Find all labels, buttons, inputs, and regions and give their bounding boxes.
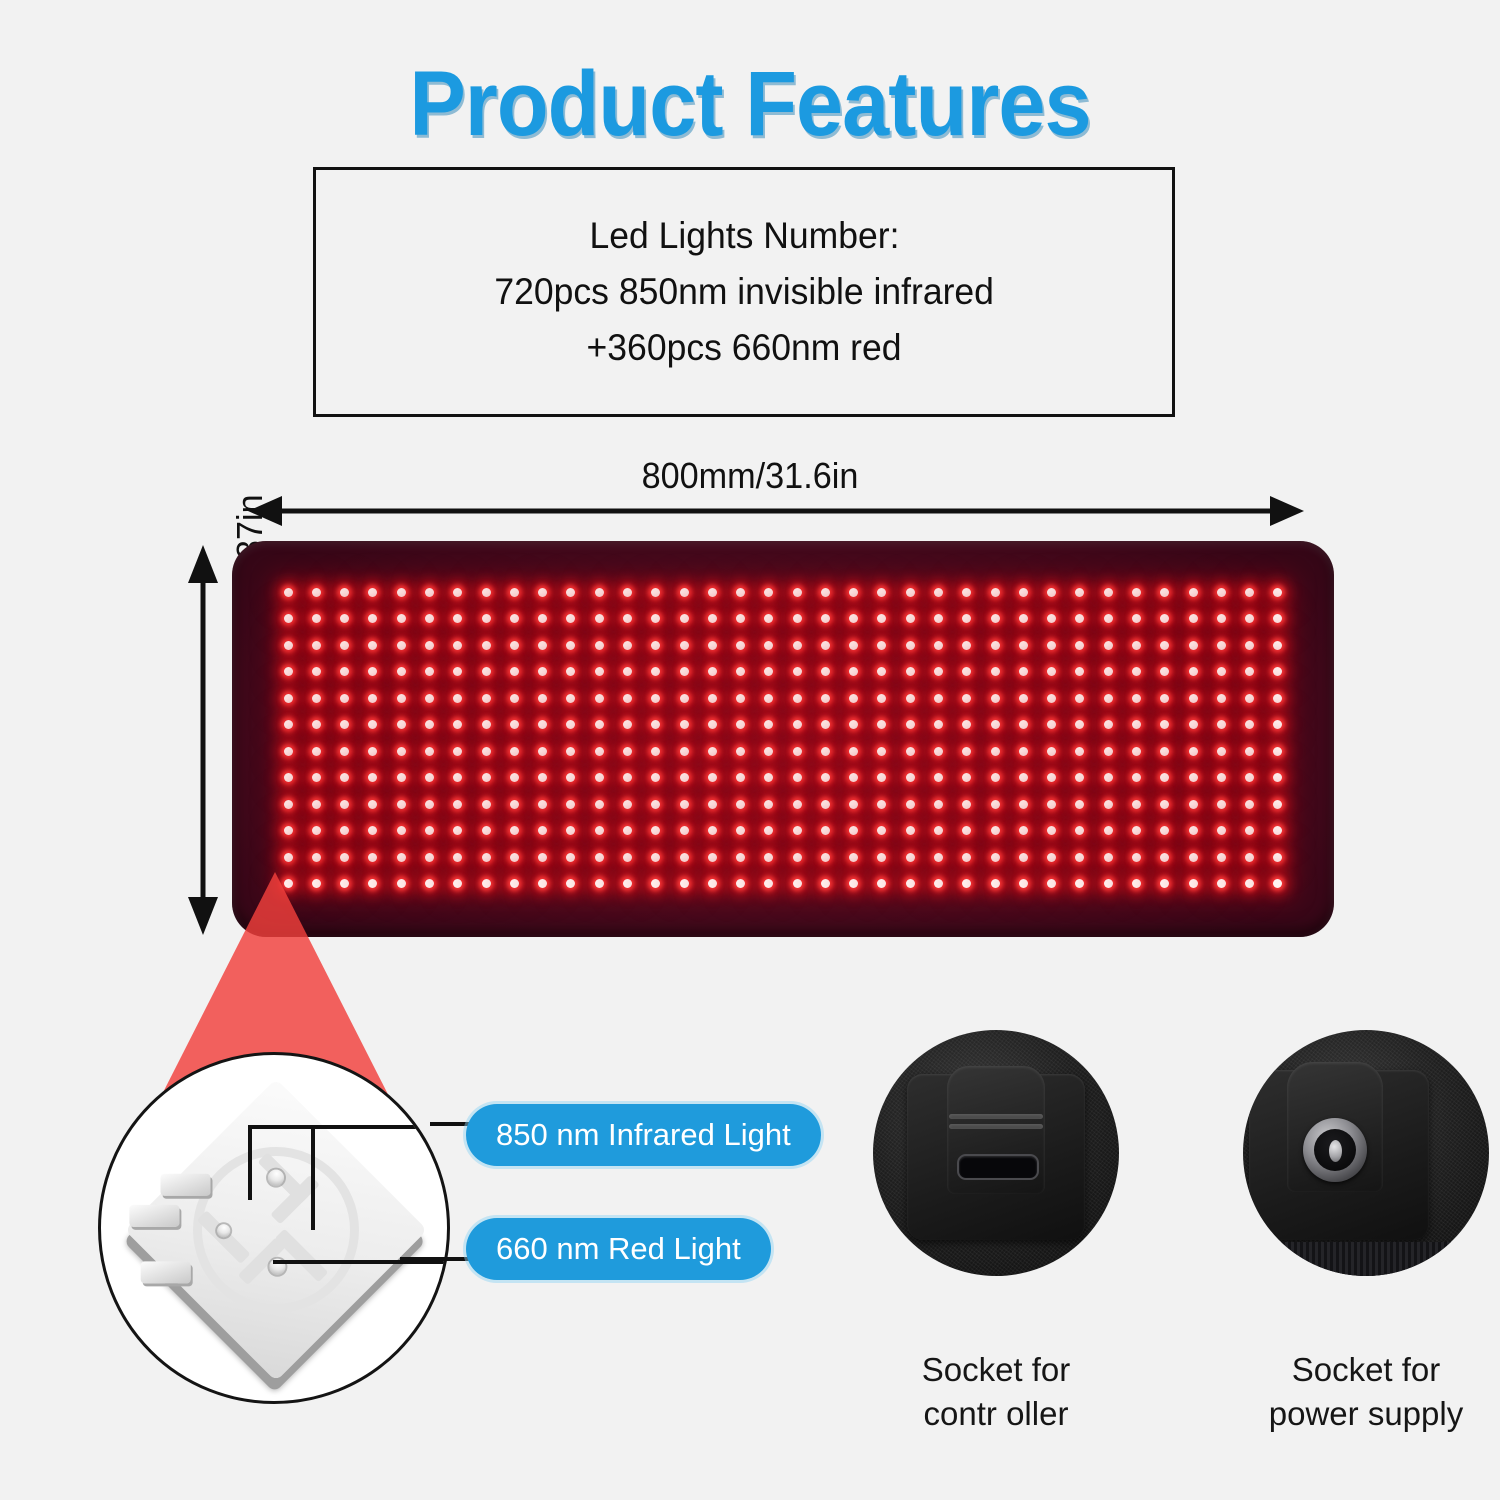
led-dot (736, 773, 745, 782)
led-dot (708, 826, 717, 835)
led-dot (1047, 800, 1056, 809)
led-dot (1189, 667, 1198, 676)
led-dot (1104, 667, 1113, 676)
led-dot (736, 879, 745, 888)
led-dot (397, 879, 406, 888)
led-dot (1273, 694, 1282, 703)
led-dot (284, 879, 293, 888)
led-dot (538, 667, 547, 676)
led-dot (849, 614, 858, 623)
led-dot (482, 720, 491, 729)
led-dot (1132, 694, 1141, 703)
led-dot (1019, 879, 1028, 888)
led-dot (680, 879, 689, 888)
led-dot (991, 879, 1000, 888)
led-dot (651, 641, 660, 650)
led-dot (849, 773, 858, 782)
led-dot (1160, 826, 1169, 835)
led-dot (1075, 879, 1084, 888)
led-dot (1047, 826, 1056, 835)
led-dot (1132, 747, 1141, 756)
led-dot (793, 747, 802, 756)
led-dot (793, 588, 802, 597)
led-dot (623, 826, 632, 835)
chip-solder-pad-2 (129, 1205, 179, 1227)
led-dot (340, 614, 349, 623)
led-dot (595, 773, 604, 782)
led-dot (651, 853, 660, 862)
led-dot (877, 720, 886, 729)
led-dot (736, 667, 745, 676)
caption-line-2: contr oller (831, 1392, 1161, 1436)
led-dot (425, 800, 434, 809)
led-dot (284, 614, 293, 623)
led-dot (1104, 879, 1113, 888)
led-dot (906, 800, 915, 809)
led-dot (368, 826, 377, 835)
led-dot (368, 694, 377, 703)
led-dot (680, 747, 689, 756)
led-dot (397, 694, 406, 703)
led-dot (962, 853, 971, 862)
led-dot (368, 773, 377, 782)
led-dot (623, 879, 632, 888)
led-dot (284, 588, 293, 597)
led-dot (680, 720, 689, 729)
led-dot (425, 667, 434, 676)
led-dot (877, 800, 886, 809)
led-dot (1075, 800, 1084, 809)
socket-photo-controller (873, 1030, 1119, 1276)
led-dot (906, 667, 915, 676)
led-dot (1189, 826, 1198, 835)
led-dot (312, 826, 321, 835)
led-dot (368, 614, 377, 623)
led-dot (962, 667, 971, 676)
led-dot (906, 853, 915, 862)
led-dot (1104, 720, 1113, 729)
led-dot (821, 614, 830, 623)
led-dot (651, 667, 660, 676)
led-dot (651, 588, 660, 597)
led-dot (538, 641, 547, 650)
led-dot (793, 773, 802, 782)
led-dot (312, 667, 321, 676)
led-dot (312, 720, 321, 729)
led-dot (1019, 800, 1028, 809)
led-dot (1075, 614, 1084, 623)
led-dot (284, 773, 293, 782)
led-dot (510, 720, 519, 729)
led-dot (821, 800, 830, 809)
led-dot (425, 773, 434, 782)
led-dot (962, 614, 971, 623)
led-dot (1273, 800, 1282, 809)
led-dot (284, 853, 293, 862)
led-dot (1217, 853, 1226, 862)
led-dot (849, 853, 858, 862)
led-dot (934, 773, 943, 782)
led-dot (708, 694, 717, 703)
led-dot (764, 800, 773, 809)
led-dot (821, 879, 830, 888)
led-dot (877, 641, 886, 650)
dc-jack-pin (1329, 1140, 1342, 1162)
led-dot (962, 641, 971, 650)
socket-photo-power (1243, 1030, 1489, 1276)
led-dot (1132, 773, 1141, 782)
led-dot (1132, 614, 1141, 623)
led-dot (962, 720, 971, 729)
led-dot (1160, 641, 1169, 650)
led-dot (510, 879, 519, 888)
led-dot (566, 853, 575, 862)
led-dot (736, 641, 745, 650)
led-dot (595, 800, 604, 809)
led-dot (538, 720, 547, 729)
led-dot (708, 853, 717, 862)
led-dot (877, 853, 886, 862)
led-dot (453, 588, 462, 597)
led-dot (510, 773, 519, 782)
leader-ir-stem-right (311, 1125, 315, 1230)
led-dot (1047, 694, 1056, 703)
led-spec-box: Led Lights Number: 720pcs 850nm invisibl… (313, 167, 1175, 417)
led-dot (453, 694, 462, 703)
led-dot (1273, 667, 1282, 676)
led-dot (538, 826, 547, 835)
led-dot (1245, 614, 1254, 623)
led-dot (680, 614, 689, 623)
led-dot (877, 773, 886, 782)
led-dot (595, 747, 604, 756)
led-dot (623, 773, 632, 782)
led-dot (425, 826, 434, 835)
led-dot (651, 773, 660, 782)
led-dot (680, 826, 689, 835)
led-dot (1217, 826, 1226, 835)
led-dot (425, 694, 434, 703)
led-dot (991, 800, 1000, 809)
led-dot (1217, 667, 1226, 676)
led-dot (962, 879, 971, 888)
led-dot (1047, 773, 1056, 782)
led-dot (453, 826, 462, 835)
led-dot (708, 879, 717, 888)
led-dot (1104, 853, 1113, 862)
led-dot (1075, 853, 1084, 862)
led-dot (397, 773, 406, 782)
led-grid (274, 579, 1292, 897)
led-dot (510, 747, 519, 756)
led-dot (736, 588, 745, 597)
led-dot (934, 747, 943, 756)
led-dot (651, 826, 660, 835)
led-dot (651, 879, 660, 888)
led-dot (453, 747, 462, 756)
led-dot (595, 826, 604, 835)
socket-caption-power: Socket for power supply (1201, 1348, 1500, 1435)
led-dot (482, 694, 491, 703)
led-dot (1132, 588, 1141, 597)
led-dot (1075, 826, 1084, 835)
led-dot (877, 667, 886, 676)
led-dot (1104, 773, 1113, 782)
led-dot (623, 853, 632, 862)
led-dot (680, 853, 689, 862)
led-dot (1189, 614, 1198, 623)
led-dot (991, 747, 1000, 756)
led-dot (764, 826, 773, 835)
led-dot (1019, 853, 1028, 862)
led-dot (566, 614, 575, 623)
led-dot (1019, 773, 1028, 782)
led-dot (368, 641, 377, 650)
led-dot (1273, 879, 1282, 888)
led-dot (482, 641, 491, 650)
velcro-strip (1243, 1242, 1489, 1276)
led-dot (566, 800, 575, 809)
led-dot (1047, 614, 1056, 623)
led-dot (368, 800, 377, 809)
led-dot (397, 588, 406, 597)
led-dot (680, 800, 689, 809)
led-dot (623, 588, 632, 597)
page-title: Product Features (60, 52, 1440, 157)
led-dot (1075, 694, 1084, 703)
led-dot (1273, 720, 1282, 729)
led-dot (312, 879, 321, 888)
led-dot (1075, 720, 1084, 729)
led-dot (1189, 800, 1198, 809)
led-dot (934, 800, 943, 809)
led-dot (906, 641, 915, 650)
led-dot (312, 800, 321, 809)
led-dot (623, 747, 632, 756)
led-dot (1189, 773, 1198, 782)
badge-infrared-light[interactable]: 850 nm Infrared Light (466, 1104, 821, 1166)
led-dot (764, 641, 773, 650)
led-dot (680, 588, 689, 597)
led-dot (906, 747, 915, 756)
led-dot (1273, 747, 1282, 756)
led-dot (1019, 694, 1028, 703)
led-dot (1245, 747, 1254, 756)
led-dot (708, 800, 717, 809)
led-dot (1019, 641, 1028, 650)
led-dot (962, 826, 971, 835)
led-dot (538, 800, 547, 809)
led-dot (538, 614, 547, 623)
led-dot (538, 694, 547, 703)
led-dot (1245, 667, 1254, 676)
led-dot (510, 641, 519, 650)
led-dot (340, 747, 349, 756)
led-dot (1104, 747, 1113, 756)
led-dot (680, 667, 689, 676)
led-dot (1189, 747, 1198, 756)
led-dot (793, 720, 802, 729)
led-dot (510, 614, 519, 623)
led-dot (1189, 641, 1198, 650)
socket-boot-rib-1 (949, 1114, 1043, 1119)
led-dot (538, 747, 547, 756)
led-dot (877, 826, 886, 835)
led-dot (651, 747, 660, 756)
led-dot (340, 853, 349, 862)
led-dot (821, 694, 830, 703)
led-dot (849, 747, 858, 756)
led-dot (425, 747, 434, 756)
led-dot (1047, 588, 1056, 597)
led-dot (312, 614, 321, 623)
led-dot (934, 641, 943, 650)
led-dot (821, 667, 830, 676)
led-dot (482, 747, 491, 756)
led-dot (284, 826, 293, 835)
led-dot (1104, 826, 1113, 835)
led-dot (566, 773, 575, 782)
led-dot (425, 641, 434, 650)
led-dot (793, 667, 802, 676)
badge-red-light[interactable]: 660 nm Red Light (466, 1218, 771, 1280)
led-dot (1245, 720, 1254, 729)
led-dot (991, 773, 1000, 782)
led-dot (1047, 667, 1056, 676)
led-dot (312, 853, 321, 862)
led-dot (340, 641, 349, 650)
led-dot (1075, 641, 1084, 650)
led-dot (934, 614, 943, 623)
led-dot (764, 879, 773, 888)
led-dot (623, 667, 632, 676)
led-dot (453, 641, 462, 650)
led-dot (991, 720, 1000, 729)
led-dot (1160, 853, 1169, 862)
led-dot (680, 773, 689, 782)
led-dot (1273, 588, 1282, 597)
led-dot (1273, 826, 1282, 835)
led-dot (849, 800, 858, 809)
led-dot (906, 614, 915, 623)
led-dot (1104, 694, 1113, 703)
leader-ir-bridge (248, 1125, 450, 1129)
width-dimension-arrow-icon (248, 494, 1304, 528)
led-dot (736, 853, 745, 862)
led-dot (566, 588, 575, 597)
led-dot (1132, 641, 1141, 650)
spec-line-infrared: 720pcs 850nm invisible infrared (494, 264, 994, 320)
led-dot (510, 588, 519, 597)
led-dot (849, 588, 858, 597)
led-dot (397, 853, 406, 862)
led-dot (397, 720, 406, 729)
led-dot (566, 694, 575, 703)
led-dot (566, 667, 575, 676)
led-dot (708, 747, 717, 756)
led-dot (566, 747, 575, 756)
led-dot (1132, 800, 1141, 809)
led-dot (1245, 773, 1254, 782)
led-dot (962, 747, 971, 756)
led-dot (708, 641, 717, 650)
led-dot (1104, 614, 1113, 623)
led-dot (793, 694, 802, 703)
led-dot (764, 667, 773, 676)
led-dot (793, 800, 802, 809)
led-dot (368, 747, 377, 756)
led-chip-magnifier (98, 1052, 450, 1404)
led-dot (284, 694, 293, 703)
led-dot (906, 720, 915, 729)
led-dot (510, 800, 519, 809)
led-dot (1217, 747, 1226, 756)
led-dot (397, 667, 406, 676)
led-dot (623, 641, 632, 650)
led-dot (736, 826, 745, 835)
led-therapy-pad (232, 541, 1334, 937)
led-dot (764, 853, 773, 862)
led-dot (482, 667, 491, 676)
led-dot (877, 694, 886, 703)
led-dot (425, 853, 434, 862)
led-dot (595, 614, 604, 623)
led-dot (340, 667, 349, 676)
caption-line-2: power supply (1201, 1392, 1500, 1436)
led-dot (849, 694, 858, 703)
led-dot (510, 853, 519, 862)
led-dot (708, 588, 717, 597)
led-dot (736, 614, 745, 623)
led-dot (538, 879, 547, 888)
led-dot (482, 800, 491, 809)
led-dot (566, 720, 575, 729)
led-dot (906, 773, 915, 782)
led-dot (991, 614, 1000, 623)
led-dot (1245, 853, 1254, 862)
led-dot (962, 800, 971, 809)
led-dot (651, 720, 660, 729)
led-dot (962, 588, 971, 597)
led-dot (312, 588, 321, 597)
led-dot (962, 694, 971, 703)
led-dot (736, 720, 745, 729)
led-dot (877, 588, 886, 597)
led-dot (849, 667, 858, 676)
led-dot (284, 747, 293, 756)
led-dot (877, 614, 886, 623)
led-dot (708, 614, 717, 623)
led-dot (1217, 641, 1226, 650)
led-dot (1160, 800, 1169, 809)
led-dot (934, 588, 943, 597)
led-dot (849, 720, 858, 729)
led-dot (1160, 614, 1169, 623)
led-dot (453, 800, 462, 809)
led-dot (1245, 694, 1254, 703)
led-dot (425, 614, 434, 623)
led-dot (764, 694, 773, 703)
led-dot (793, 853, 802, 862)
led-dot (1075, 588, 1084, 597)
led-dot (821, 826, 830, 835)
led-dot (368, 853, 377, 862)
led-dot (764, 588, 773, 597)
led-dot (538, 853, 547, 862)
led-dot (1160, 667, 1169, 676)
led-dot (1160, 694, 1169, 703)
led-dot (1273, 641, 1282, 650)
